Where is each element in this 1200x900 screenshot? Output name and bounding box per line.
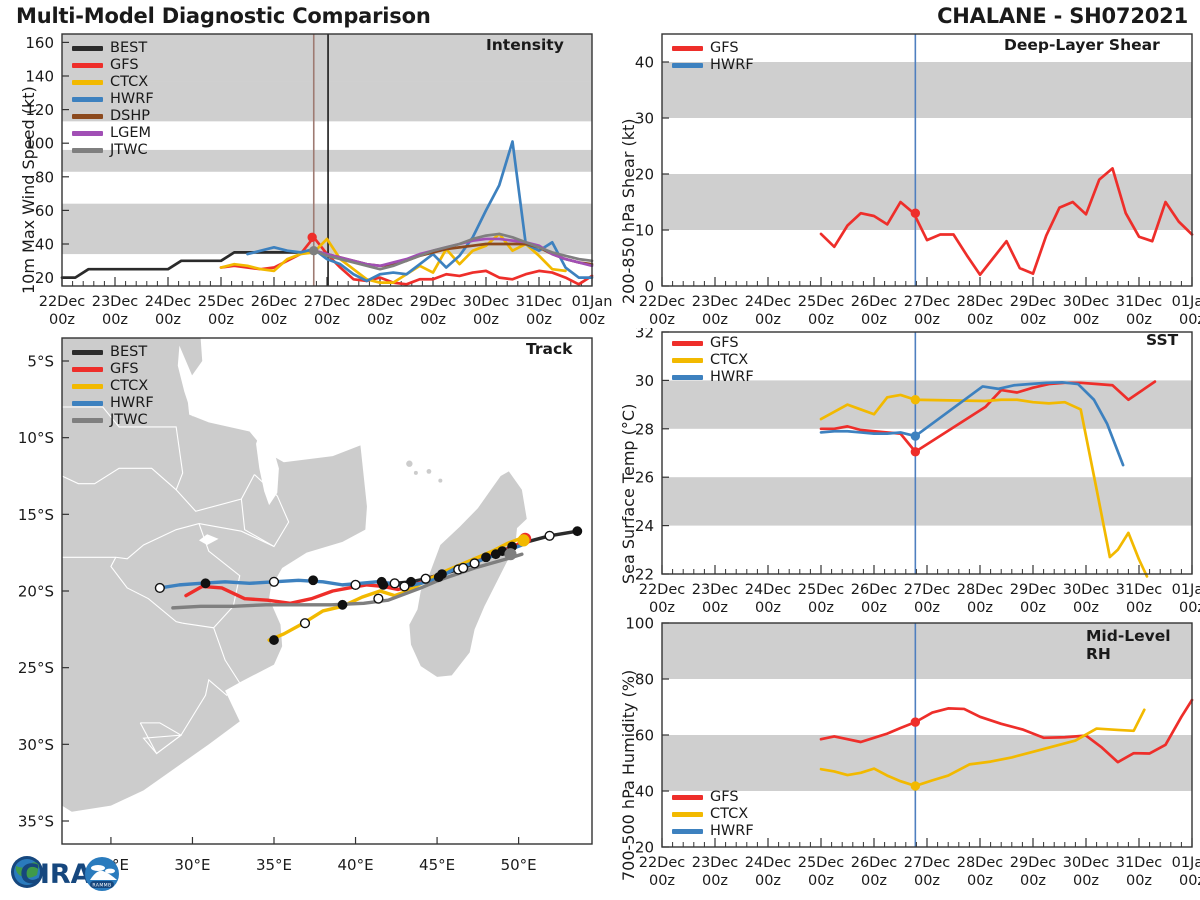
legend-label-gfs: GFS xyxy=(710,790,739,805)
y-tick-label: 100 xyxy=(625,615,654,633)
x-tick-label: 30Dec xyxy=(456,294,516,310)
map-y-tick-label: 20°S xyxy=(18,583,54,601)
x-tick-label: 24Dec xyxy=(738,582,798,598)
rh-x-axis: 22Dec00z23Dec00z24Dec00z25Dec00z26Dec00z… xyxy=(600,853,1200,898)
legend-label-jtwc: JTWC xyxy=(110,413,148,428)
track-position-dot xyxy=(459,564,468,573)
x-tick-sublabel: 00z xyxy=(950,873,1010,889)
current-position-marker xyxy=(505,549,516,560)
legend-swatch-jtwc xyxy=(72,418,103,423)
legend-swatch-lgem xyxy=(72,131,103,136)
legend-swatch-gfs xyxy=(672,46,703,51)
x-tick-sublabel: 00z xyxy=(897,873,957,889)
panel-sst: Sea Surface Temp (°C) 222426283032 SST G… xyxy=(600,328,1200,613)
track-position-dot xyxy=(390,579,399,588)
legend-item-hwrf[interactable]: HWRF xyxy=(672,369,754,386)
shaded-band xyxy=(662,174,1192,230)
x-tick-label: 28Dec xyxy=(950,294,1010,310)
legend-label-hwrf: HWRF xyxy=(110,92,154,107)
x-tick-sublabel: 00z xyxy=(1003,312,1063,328)
legend-swatch-best xyxy=(72,46,103,51)
rh-panel-tag: Mid-Level RH xyxy=(1086,627,1200,663)
legend-label-ctcx: CTCX xyxy=(710,353,748,368)
x-tick-label: 26Dec xyxy=(844,855,904,871)
track-position-dot xyxy=(400,582,409,591)
x-tick-sublabel: 00z xyxy=(844,873,904,889)
x-tick-label: 01Jan xyxy=(1162,294,1200,310)
x-tick-label: 25Dec xyxy=(791,855,851,871)
x-tick-label: 24Dec xyxy=(138,294,198,310)
current-value-marker xyxy=(911,782,919,790)
shear-panel-tag: Deep-Layer Shear xyxy=(1004,36,1160,54)
legend-swatch-hwrf xyxy=(72,97,103,102)
legend-swatch-dshp xyxy=(72,114,103,119)
track-position-dot xyxy=(338,600,347,609)
legend-item-hwrf[interactable]: HWRF xyxy=(672,823,754,840)
x-tick-sublabel: 00z xyxy=(1162,312,1200,328)
x-tick-label: 23Dec xyxy=(685,855,745,871)
x-tick-label: 27Dec xyxy=(897,582,957,598)
shear-y-axis-label: 200-850 hPa Shear (kt) xyxy=(619,118,638,304)
current-value-marker xyxy=(911,448,919,456)
map-y-tick-label: 25°S xyxy=(18,659,54,677)
x-tick-label: 22Dec xyxy=(32,294,92,310)
legend-label-best: BEST xyxy=(110,41,147,56)
track-position-dot xyxy=(374,594,383,603)
y-tick-label: 40 xyxy=(635,54,654,72)
x-tick-label: 28Dec xyxy=(950,582,1010,598)
island xyxy=(406,461,412,467)
x-tick-sublabel: 00z xyxy=(1162,873,1200,889)
x-tick-sublabel: 00z xyxy=(738,873,798,889)
x-tick-label: 27Dec xyxy=(897,294,957,310)
x-tick-label: 24Dec xyxy=(738,855,798,871)
sst-y-axis-label: Sea Surface Temp (°C) xyxy=(619,404,638,584)
island xyxy=(438,479,442,483)
x-tick-label: 29Dec xyxy=(403,294,463,310)
x-tick-label: 22Dec xyxy=(632,582,692,598)
legend-swatch-hwrf xyxy=(672,375,703,380)
legend-swatch-ctcx xyxy=(672,812,703,817)
track-legend[interactable]: BESTGFSCTCXHWRFJTWC xyxy=(72,344,154,429)
x-tick-label: 27Dec xyxy=(297,294,357,310)
island xyxy=(414,471,418,475)
x-tick-sublabel: 00z xyxy=(456,312,516,328)
map-y-tick-label: 5°S xyxy=(27,353,54,371)
x-tick-sublabel: 00z xyxy=(297,312,357,328)
cira-logo: CIRA RAMMB xyxy=(6,846,128,896)
legend-label-hwrf: HWRF xyxy=(710,824,754,839)
panel-track: 5°S10°S15°S20°S25°S30°S35°S25°E30°E35°E4… xyxy=(0,328,600,900)
x-tick-sublabel: 00z xyxy=(632,312,692,328)
track-position-dot xyxy=(377,577,386,586)
track-position-dot xyxy=(421,574,430,583)
legend-item-gfs[interactable]: GFS xyxy=(672,789,754,806)
x-tick-label: 31Dec xyxy=(509,294,569,310)
panel-intensity: 10m Max Wind Speed (kt) 2040608010012014… xyxy=(0,28,600,328)
legend-label-ctcx: CTCX xyxy=(110,379,148,394)
legend-label-hwrf: HWRF xyxy=(710,370,754,385)
track-position-dot xyxy=(301,619,310,628)
legend-item-ctcx[interactable]: CTCX xyxy=(72,74,154,91)
legend-item-gfs[interactable]: GFS xyxy=(672,40,754,57)
panel-rh: 700-500 hPa Humidity (%) 20406080100 Mid… xyxy=(600,613,1200,900)
legend-item-gfs[interactable]: GFS xyxy=(672,335,754,352)
x-tick-sublabel: 00z xyxy=(738,312,798,328)
y-tick-label: 160 xyxy=(25,34,54,52)
x-tick-label: 01Jan xyxy=(1162,855,1200,871)
track-position-dot xyxy=(201,579,210,588)
track-position-dot xyxy=(434,573,443,582)
legend-item-gfs[interactable]: GFS xyxy=(72,57,154,74)
map-y-tick-label: 15°S xyxy=(18,506,54,524)
map-x-tick-label: 40°E xyxy=(337,856,373,874)
legend-label-ctcx: CTCX xyxy=(110,75,148,90)
x-tick-sublabel: 00z xyxy=(350,312,410,328)
legend-swatch-hwrf xyxy=(672,829,703,834)
x-tick-sublabel: 00z xyxy=(138,312,198,328)
legend-item-hwrf[interactable]: HWRF xyxy=(72,91,154,108)
x-tick-label: 23Dec xyxy=(685,294,745,310)
map-x-tick-label: 30°E xyxy=(174,856,210,874)
intensity-panel-tag: Intensity xyxy=(486,36,564,54)
x-tick-label: 30Dec xyxy=(1056,855,1116,871)
shaded-band xyxy=(62,204,592,254)
map-y-tick-label: 10°S xyxy=(18,429,54,447)
x-tick-label: 25Dec xyxy=(191,294,251,310)
legend-label-ctcx: CTCX xyxy=(710,807,748,822)
x-tick-label: 29Dec xyxy=(1003,582,1063,598)
rh-y-axis-label: 700-500 hPa Humidity (%) xyxy=(619,670,638,881)
legend-swatch-ctcx xyxy=(672,358,703,363)
x-tick-sublabel: 00z xyxy=(1056,873,1116,889)
legend-item-ctcx[interactable]: CTCX xyxy=(72,378,154,395)
intensity-legend[interactable]: BESTGFSCTCXHWRFDSHPLGEMJTWC xyxy=(72,40,154,159)
legend-swatch-best xyxy=(72,350,103,355)
x-tick-label: 31Dec xyxy=(1109,855,1169,871)
shaded-band xyxy=(662,477,1192,525)
shear-legend[interactable]: GFSHWRF xyxy=(672,40,754,74)
x-tick-sublabel: 00z xyxy=(1056,312,1116,328)
y-tick-label: 32 xyxy=(635,328,654,342)
legend-label-gfs: GFS xyxy=(110,362,139,377)
x-tick-label: 22Dec xyxy=(632,294,692,310)
x-tick-label: 27Dec xyxy=(897,855,957,871)
x-tick-label: 28Dec xyxy=(350,294,410,310)
x-tick-label: 31Dec xyxy=(1109,294,1169,310)
legend-swatch-hwrf xyxy=(672,63,703,68)
intensity-y-axis-label: 10m Max Wind Speed (kt) xyxy=(19,86,38,294)
svg-text:RAMMB: RAMMB xyxy=(92,883,111,889)
x-tick-label: 25Dec xyxy=(791,582,851,598)
island xyxy=(427,469,432,474)
x-tick-sublabel: 00z xyxy=(632,873,692,889)
legend-swatch-gfs xyxy=(72,367,103,372)
track-position-dot xyxy=(573,527,582,536)
current-value-marker xyxy=(911,209,919,217)
y-tick-label: 140 xyxy=(25,68,54,86)
x-tick-sublabel: 00z xyxy=(844,312,904,328)
x-tick-sublabel: 00z xyxy=(244,312,304,328)
legend-item-jtwc[interactable]: JTWC xyxy=(72,412,154,429)
legend-item-ctcx[interactable]: CTCX xyxy=(672,806,754,823)
x-tick-label: 29Dec xyxy=(1003,855,1063,871)
x-tick-sublabel: 00z xyxy=(897,312,957,328)
legend-item-ctcx[interactable]: CTCX xyxy=(672,352,754,369)
x-tick-label: 31Dec xyxy=(1109,582,1169,598)
legend-swatch-gfs xyxy=(72,63,103,68)
map-y-tick-label: 30°S xyxy=(18,736,54,754)
x-tick-sublabel: 00z xyxy=(32,312,92,328)
x-tick-label: 26Dec xyxy=(844,582,904,598)
shear-x-axis: 22Dec00z23Dec00z24Dec00z25Dec00z26Dec00z… xyxy=(600,292,1200,332)
track-position-dot xyxy=(270,636,279,645)
x-tick-sublabel: 00z xyxy=(950,312,1010,328)
x-tick-label: 01Jan xyxy=(1162,582,1200,598)
storm-id-title: CHALANE - SH072021 xyxy=(937,4,1188,28)
current-value-marker xyxy=(310,247,318,255)
legend-swatch-jtwc xyxy=(72,148,103,153)
map-y-tick-label: 35°S xyxy=(18,813,54,831)
sst-legend[interactable]: GFSCTCXHWRF xyxy=(672,335,754,386)
track-position-dot xyxy=(270,577,279,586)
x-tick-label: 26Dec xyxy=(244,294,304,310)
x-tick-sublabel: 00z xyxy=(791,873,851,889)
current-value-marker xyxy=(911,396,919,404)
legend-item-best[interactable]: BEST xyxy=(72,40,154,57)
current-value-marker xyxy=(911,718,919,726)
rammb-badge-icon: RAMMB xyxy=(85,857,119,891)
cira-wordmark: CIRA xyxy=(20,859,92,890)
track-position-dot xyxy=(491,550,500,559)
legend-label-dshp: DSHP xyxy=(110,109,150,124)
legend-item-lgem[interactable]: LGEM xyxy=(72,125,154,142)
legend-item-dshp[interactable]: DSHP xyxy=(72,108,154,125)
x-tick-label: 23Dec xyxy=(685,582,745,598)
legend-label-gfs: GFS xyxy=(110,58,139,73)
track-position-dot xyxy=(309,576,318,585)
current-value-marker xyxy=(308,233,316,241)
y-tick-label: 30 xyxy=(635,372,654,390)
panel-shear: 200-850 hPa Shear (kt) 010203040 Deep-La… xyxy=(600,28,1200,328)
legend-item-hwrf[interactable]: HWRF xyxy=(72,395,154,412)
x-tick-sublabel: 00z xyxy=(1003,873,1063,889)
legend-label-jtwc: JTWC xyxy=(110,143,148,158)
legend-item-hwrf[interactable]: HWRF xyxy=(672,57,754,74)
track-position-dot xyxy=(470,559,479,568)
legend-item-jtwc[interactable]: JTWC xyxy=(72,142,154,159)
x-tick-label: 28Dec xyxy=(950,855,1010,871)
track-position-dot xyxy=(545,531,554,540)
legend-label-gfs: GFS xyxy=(710,336,739,351)
legend-item-best[interactable]: BEST xyxy=(72,344,154,361)
x-tick-sublabel: 00z xyxy=(1109,312,1169,328)
legend-label-lgem: LGEM xyxy=(110,126,151,141)
x-tick-sublabel: 00z xyxy=(1109,873,1169,889)
current-position-marker xyxy=(518,535,529,546)
track-position-dot xyxy=(351,580,360,589)
page-title: Multi-Model Diagnostic Comparison xyxy=(16,4,431,28)
x-tick-label: 29Dec xyxy=(1003,294,1063,310)
legend-label-best: BEST xyxy=(110,345,147,360)
x-tick-label: 26Dec xyxy=(844,294,904,310)
x-tick-label: 30Dec xyxy=(1056,294,1116,310)
x-tick-sublabel: 00z xyxy=(191,312,251,328)
track-position-dot xyxy=(482,553,491,562)
x-tick-sublabel: 00z xyxy=(791,312,851,328)
track-panel-tag: Track xyxy=(526,340,572,358)
x-tick-label: 30Dec xyxy=(1056,582,1116,598)
x-tick-sublabel: 00z xyxy=(685,873,745,889)
legend-item-gfs[interactable]: GFS xyxy=(72,361,154,378)
sst-panel-tag: SST xyxy=(1146,331,1178,349)
x-tick-sublabel: 00z xyxy=(509,312,569,328)
legend-swatch-gfs xyxy=(672,341,703,346)
x-tick-label: 23Dec xyxy=(85,294,145,310)
rh-legend[interactable]: GFSCTCXHWRF xyxy=(672,789,754,840)
legend-swatch-ctcx xyxy=(72,80,103,85)
x-tick-sublabel: 00z xyxy=(403,312,463,328)
x-tick-sublabel: 00z xyxy=(685,312,745,328)
x-tick-sublabel: 00z xyxy=(85,312,145,328)
legend-swatch-gfs xyxy=(672,795,703,800)
legend-label-hwrf: HWRF xyxy=(110,396,154,411)
x-tick-label: 25Dec xyxy=(791,294,851,310)
legend-label-gfs: GFS xyxy=(710,41,739,56)
track-position-dot xyxy=(155,584,164,593)
map-x-tick-label: 50°E xyxy=(501,856,537,874)
legend-swatch-ctcx xyxy=(72,384,103,389)
map-x-tick-label: 45°E xyxy=(419,856,455,874)
map-x-tick-label: 35°E xyxy=(256,856,292,874)
x-tick-label: 22Dec xyxy=(632,855,692,871)
x-tick-label: 24Dec xyxy=(738,294,798,310)
legend-label-hwrf: HWRF xyxy=(710,58,754,73)
legend-swatch-hwrf xyxy=(72,401,103,406)
intensity-x-axis: 22Dec00z23Dec00z24Dec00z25Dec00z26Dec00z… xyxy=(0,292,600,332)
current-value-marker xyxy=(911,432,919,440)
shaded-band xyxy=(662,380,1192,428)
